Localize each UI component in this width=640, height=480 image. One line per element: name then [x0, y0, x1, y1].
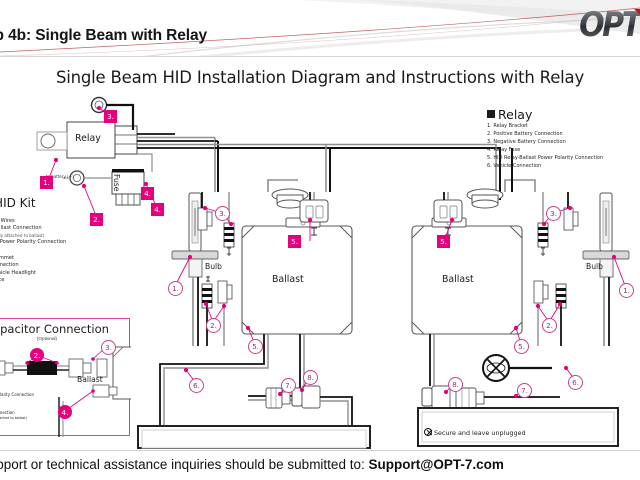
hid-legend-item: Vehicle Connection — [0, 262, 66, 270]
hid-legend-item: HID Bulb-Ballast Connection — [0, 225, 66, 233]
relay-legend-item: 4. Relay Fuse — [487, 146, 603, 154]
right-callout-2: 2. — [542, 318, 557, 333]
footer-support-email: Support@OPT-7.com — [368, 457, 503, 472]
right-callout-8: 8. — [448, 377, 463, 392]
relay-legend: Relay 1. Relay Bracket 2. Positive Batte… — [487, 107, 603, 170]
hid-legend-item: Xenon Bulb Wires — [0, 218, 66, 226]
page-header: ep 4b: Single Beam with Relay OPT7 — [0, 0, 640, 57]
capacitor-legend-item: Ballast Power Polarity Connection — [0, 392, 34, 398]
left-callout-4: 4. — [141, 187, 154, 200]
hid-legend-item: HID Ballast — [0, 247, 66, 255]
crossed-circle-icon — [424, 428, 432, 436]
page-footer: support or technical assistance inquirie… — [0, 455, 640, 480]
relay-callout-3: 3. — [104, 110, 117, 123]
capacitor-callout-2: 2. — [30, 348, 44, 362]
capacitor-connection-panel: Capacitor Connection (Optional) — [0, 318, 130, 436]
relay-legend-item: 3. Negative Battery Connection — [487, 138, 603, 146]
relay-callout-4: 4. — [151, 203, 164, 216]
hid-legend-item: Rubber Grommet — [0, 255, 66, 263]
right-callout-1: 1. — [619, 283, 634, 298]
relay-callout-1: 1. — [40, 176, 53, 189]
hid-legend-item: HID Ballast Power Polarity Connection — [0, 239, 66, 247]
capacitor-callout-4: 4. — [58, 405, 72, 419]
fuse-label: Fuse — [112, 174, 121, 191]
relay-legend-item: 2. Positive Battery Connection — [487, 130, 603, 138]
header-divider — [0, 56, 640, 57]
left-ballast-label: Ballast — [272, 274, 304, 285]
hid-kit-legend: D HID Kit Xenon Bulb Xenon Bulb Wires HI… — [0, 196, 66, 285]
right-callout-3: 3. — [546, 206, 561, 221]
footer-support-text: support or technical assistance inquirie… — [0, 457, 504, 472]
left-callout-8: 8. — [303, 370, 318, 385]
unplugged-note-text: Secure and leave unplugged — [434, 429, 526, 437]
capacitor-legend-subnote: (May be directly attached to ballast) — [0, 416, 34, 421]
left-callout-5-circle: 5. — [248, 339, 263, 354]
left-callout-7: 7. — [281, 378, 296, 393]
hid-legend-item: Original Vehicle Headlight — [0, 270, 66, 278]
right-bulb-label: Bulb — [586, 262, 603, 271]
right-callout-7: 7. — [517, 383, 532, 398]
filled-square-icon — [487, 110, 495, 118]
right-ballast-label: Ballast — [442, 274, 474, 285]
hid-legend-item: Power Source — [0, 277, 66, 285]
wiring-diagram-canvas: Capacitor Connection (Optional) — [0, 96, 640, 450]
capacitor-legend: Ballast Power Polarity Connection Capaci… — [0, 392, 34, 421]
relay-legend-heading: Relay — [487, 107, 603, 122]
capacitor-callout-3: 3. — [101, 340, 116, 355]
hid-legend-subnote: (May be directly attached to ballast) — [0, 233, 66, 240]
hid-kit-legend-heading: D HID Kit — [0, 196, 66, 210]
left-callout-6: 6. — [189, 378, 204, 393]
left-bulb-label: Bulb — [205, 262, 222, 271]
relay-legend-item: 6. Vehicle Connection — [487, 162, 603, 170]
left-callout-2: 2. — [206, 318, 221, 333]
relay-legend-item: 5. HID Relay-Ballast Power Polarity Conn… — [487, 154, 603, 162]
right-callout-5-circle: 5. — [514, 339, 529, 354]
left-callout-1: 1. — [168, 281, 183, 296]
step-title: ep 4b: Single Beam with Relay — [0, 27, 207, 45]
right-callout-6: 6. — [568, 375, 583, 390]
capacitor-ballast-label: Ballast — [77, 375, 103, 384]
left-callout-3: 3. — [215, 206, 230, 221]
footer-divider — [0, 450, 640, 451]
hid-legend-item: Xenon Bulb — [0, 210, 66, 218]
right-callout-5-square: 5. — [437, 235, 450, 248]
page-title: Single Beam HID Installation Diagram and… — [0, 68, 640, 87]
opt7-logo: OPT7 — [579, 6, 640, 45]
relay-callout-2: 2. — [90, 213, 103, 226]
unplugged-note: Secure and leave unplugged — [424, 428, 526, 437]
relay-box-label: Relay — [75, 133, 101, 144]
footer-text-plain: support or technical assistance inquirie… — [0, 457, 368, 472]
relay-legend-item: 1. Relay Bracket — [487, 122, 603, 130]
left-callout-5-square: 5. — [288, 235, 301, 248]
